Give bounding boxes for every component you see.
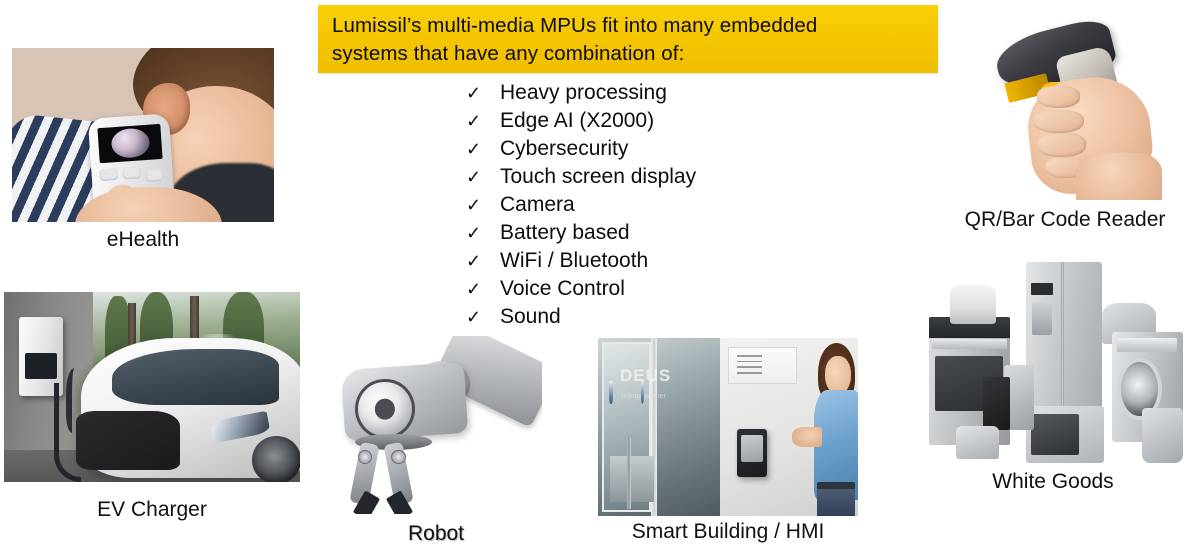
list-item: ✓ Battery based bbox=[466, 219, 886, 247]
list-item: ✓ Sound bbox=[466, 303, 886, 331]
toaster bbox=[956, 426, 999, 459]
list-item-label: Edge AI (X2000) bbox=[500, 107, 654, 135]
caption-white-goods: White Goods bbox=[918, 470, 1188, 494]
front-grille bbox=[76, 411, 179, 470]
kettle bbox=[983, 377, 1010, 430]
list-item: ✓ Edge AI (X2000) bbox=[466, 107, 886, 135]
list-item: ✓ WiFi / Bluetooth bbox=[466, 247, 886, 275]
feature-list: ✓ Heavy processing ✓ Edge AI (X2000) ✓ C… bbox=[466, 79, 886, 331]
list-item: ✓ Camera bbox=[466, 191, 886, 219]
slide-canvas: Lumissil’s multi-media MPUs fit into man… bbox=[0, 0, 1200, 558]
list-item-label: Camera bbox=[500, 191, 575, 219]
wheel bbox=[252, 436, 300, 482]
headline-line-1: Lumissil’s multi-media MPUs fit into man… bbox=[332, 12, 926, 40]
electric-car bbox=[81, 338, 300, 479]
list-item-label: WiFi / Bluetooth bbox=[500, 247, 648, 275]
person-arm bbox=[792, 427, 822, 447]
check-icon: ✓ bbox=[466, 163, 500, 191]
check-icon: ✓ bbox=[466, 191, 500, 219]
food-steamer bbox=[950, 285, 996, 324]
otoscope-button bbox=[145, 168, 164, 182]
fridge-door-split bbox=[1061, 262, 1064, 414]
refrigerator bbox=[1026, 262, 1102, 414]
caption-qr-reader: QR/Bar Code Reader bbox=[940, 208, 1190, 232]
entrance-wall bbox=[720, 338, 858, 516]
list-item: ✓ Heavy processing bbox=[466, 79, 886, 107]
check-icon: ✓ bbox=[466, 107, 500, 135]
fridge-display bbox=[1031, 283, 1054, 295]
qr-reader-image bbox=[986, 4, 1182, 200]
caption-ev-charger: EV Charger bbox=[4, 498, 300, 522]
queue-post bbox=[627, 438, 631, 509]
white-goods-image bbox=[918, 258, 1188, 463]
list-item-label: Touch screen display bbox=[500, 163, 696, 191]
wrist bbox=[1076, 153, 1162, 200]
headline-banner: Lumissil’s multi-media MPUs fit into man… bbox=[318, 5, 938, 73]
pendant-lamp bbox=[609, 381, 613, 404]
check-icon: ✓ bbox=[466, 303, 500, 331]
check-icon: ✓ bbox=[466, 275, 500, 303]
washer-control-panel bbox=[1117, 338, 1177, 351]
caption-smart-building: Smart Building / HMI bbox=[598, 520, 858, 544]
caption-robot: Robot bbox=[330, 522, 542, 546]
reception-desk bbox=[610, 456, 654, 502]
food-processor bbox=[1142, 408, 1183, 463]
check-icon: ✓ bbox=[466, 247, 500, 275]
finger bbox=[1037, 86, 1080, 108]
lobby-scene: DEUS nology partner bbox=[598, 338, 720, 516]
person-jeans bbox=[817, 489, 856, 516]
check-icon: ✓ bbox=[466, 219, 500, 247]
otoscope-screen bbox=[97, 123, 163, 162]
ev-charger-image bbox=[4, 292, 300, 482]
caption-ehealth: eHealth bbox=[12, 228, 274, 252]
list-item-label: Sound bbox=[500, 303, 561, 331]
otoscope-button bbox=[99, 168, 118, 182]
robot-image bbox=[330, 336, 542, 514]
directory-sign bbox=[728, 347, 797, 384]
access-card-reader[interactable] bbox=[737, 429, 767, 477]
charger-screen bbox=[25, 353, 57, 379]
check-icon: ✓ bbox=[466, 135, 500, 163]
control-knobs bbox=[932, 339, 1007, 349]
list-item-label: Voice Control bbox=[500, 275, 625, 303]
robot-rotary-hub bbox=[355, 379, 414, 440]
smart-building-image: DEUS nology partner bbox=[598, 338, 858, 516]
list-item-label: Heavy processing bbox=[500, 79, 667, 107]
check-icon: ✓ bbox=[466, 79, 500, 107]
finger bbox=[1037, 133, 1086, 157]
list-item: ✓ Touch screen display bbox=[466, 163, 886, 191]
microwave-door bbox=[1031, 414, 1080, 455]
list-item-label: Battery based bbox=[500, 219, 630, 247]
otoscope-button bbox=[122, 166, 141, 180]
list-item-label: Cybersecurity bbox=[500, 135, 628, 163]
ehealth-image bbox=[12, 48, 274, 222]
water-dispenser bbox=[1032, 302, 1052, 335]
windshield bbox=[112, 349, 278, 405]
list-item: ✓ Cybersecurity bbox=[466, 135, 886, 163]
list-item: ✓ Voice Control bbox=[466, 275, 886, 303]
headline-line-2: systems that have any combination of: bbox=[332, 40, 926, 68]
microwave-oven bbox=[1026, 406, 1104, 463]
reader-display bbox=[741, 435, 763, 463]
finger bbox=[1033, 110, 1084, 134]
lens-icon bbox=[110, 128, 150, 159]
